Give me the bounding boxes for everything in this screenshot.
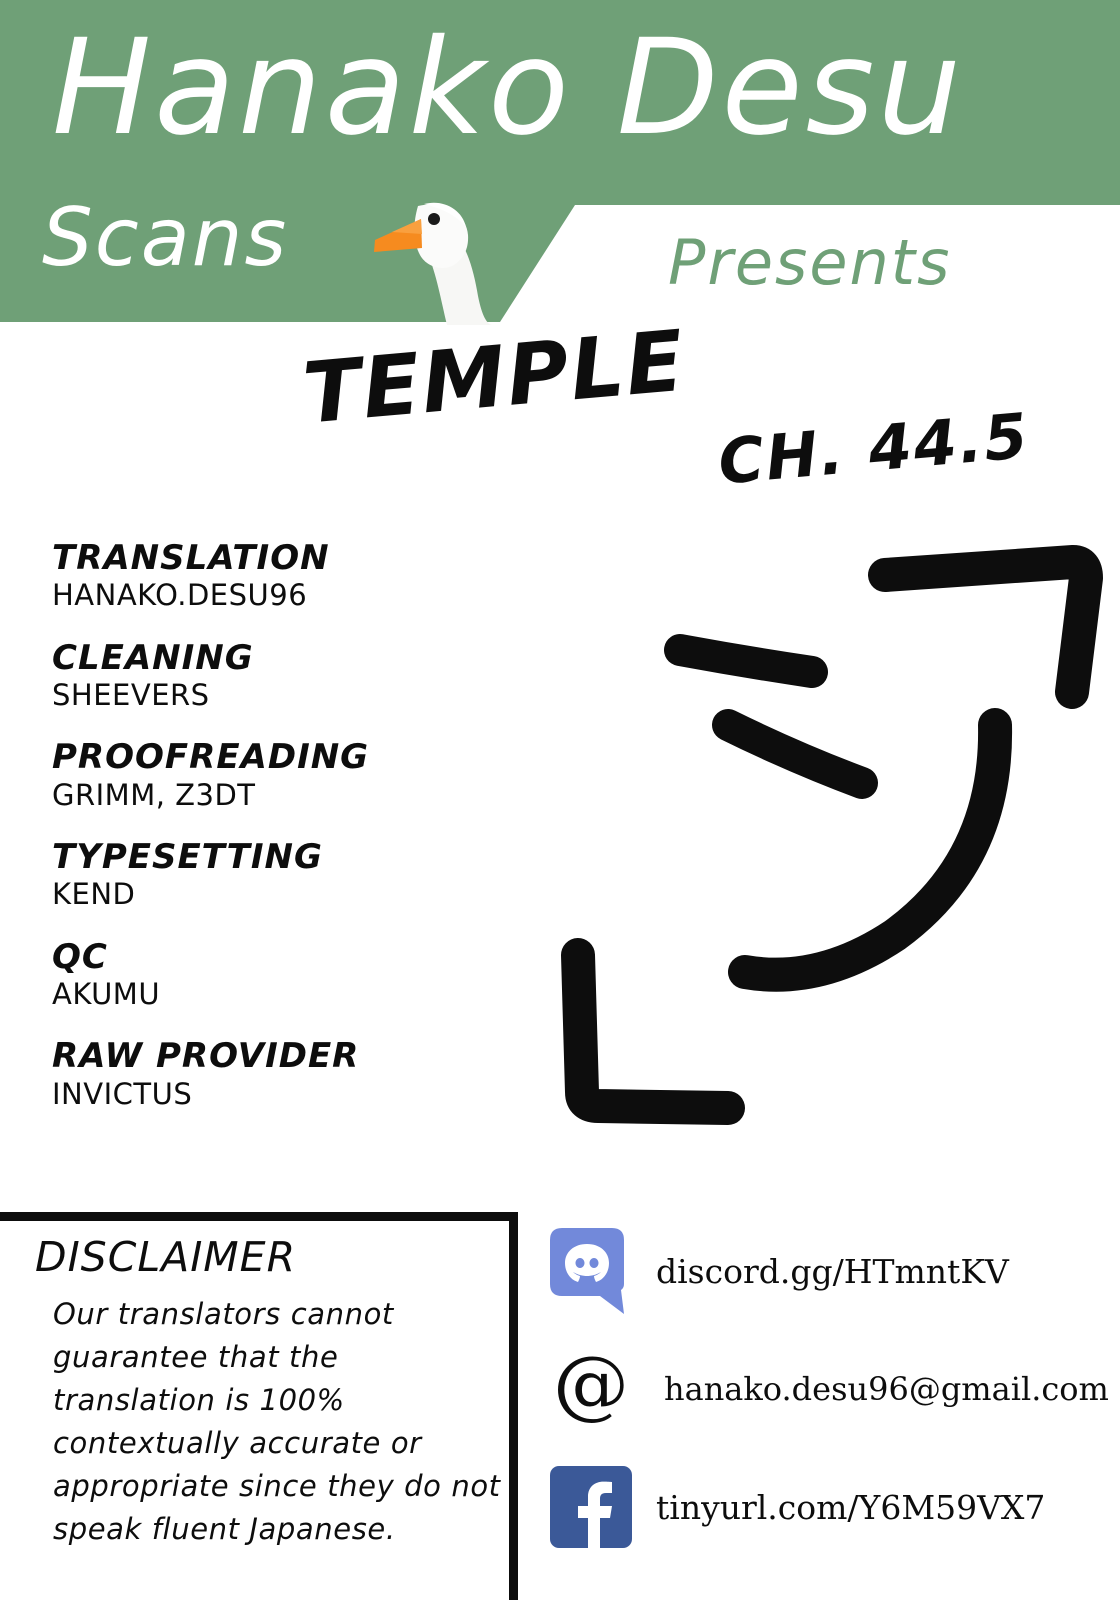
disclaimer-box: DISCLAIMER Our translators cannot guaran… <box>0 1212 518 1600</box>
social-row-discord[interactable]: discord.gg/HTmntKV <box>548 1212 1108 1330</box>
credit-entry-raw-provider: RAW PROVIDER INVICTUS <box>52 1038 512 1112</box>
facebook-icon <box>548 1464 634 1550</box>
brand-title: Hanako Desu <box>52 22 964 154</box>
disclaimer-heading: DISCLAIMER <box>35 1237 296 1278</box>
credit-name-value: GRIMM, Z3DT <box>52 777 512 813</box>
social-row-email[interactable]: @ hanako.desu96@gmail.com <box>548 1330 1108 1448</box>
credit-entry-typesetting: TYPESETTING KEND <box>52 839 512 913</box>
credits-page: Hanako Desu Scans Presents TEMPLE CH. 44… <box>0 0 1120 1600</box>
svg-text:@: @ <box>553 1346 629 1428</box>
credit-name-value: KEND <box>52 876 512 912</box>
credit-entry-qc: QC AKUMU <box>52 939 512 1013</box>
credit-name-value: HANAKO.DESU96 <box>52 577 512 613</box>
goose-mascot-icon <box>374 203 493 325</box>
social-link-label[interactable]: tinyurl.com/Y6M59VX7 <box>656 1491 1045 1524</box>
credit-role-label: QC <box>52 939 512 976</box>
brand-subtitle: Scans <box>42 198 288 278</box>
credit-name-value: SHEEVERS <box>52 677 512 713</box>
social-links-list: discord.gg/HTmntKV @ hanako.desu96@gmail… <box>548 1212 1108 1566</box>
series-title: TEMPLE <box>300 319 689 436</box>
social-row-facebook[interactable]: tinyurl.com/Y6M59VX7 <box>548 1448 1108 1566</box>
hook-stroke-fu-icon <box>885 562 1086 692</box>
credit-role-label: RAW PROVIDER <box>52 1038 512 1075</box>
credit-name-value: AKUMU <box>52 976 512 1012</box>
social-link-label[interactable]: discord.gg/HTmntKV <box>656 1255 1009 1288</box>
presents-label: Presents <box>668 232 951 294</box>
email-at-icon: @ <box>548 1346 634 1432</box>
disclaimer-text: Our translators cannot guarantee that th… <box>53 1293 503 1550</box>
upper-dash-stroke-icon <box>680 650 812 672</box>
discord-icon <box>548 1228 634 1314</box>
japanese-brush-strokes-art <box>520 520 1120 1140</box>
credit-role-label: CLEANING <box>52 640 512 677</box>
credit-name-value: INVICTUS <box>52 1076 512 1112</box>
credit-entry-cleaning: CLEANING SHEEVERS <box>52 640 512 714</box>
chapter-number: CH. 44.5 <box>716 405 1032 494</box>
credit-role-label: PROOFREADING <box>52 739 512 776</box>
credits-list: TRANSLATION HANAKO.DESU96 CLEANING SHEEV… <box>52 540 512 1138</box>
corner-stroke-l-icon <box>578 955 728 1108</box>
credit-role-label: TRANSLATION <box>52 540 512 577</box>
lower-dash-stroke-icon <box>728 725 862 783</box>
credit-role-label: TYPESETTING <box>52 839 512 876</box>
long-curve-stroke-icon <box>745 725 995 975</box>
credit-entry-proofreading: PROOFREADING GRIMM, Z3DT <box>52 739 512 813</box>
social-link-label[interactable]: hanako.desu96@gmail.com <box>664 1373 1109 1405</box>
credit-entry-translation: TRANSLATION HANAKO.DESU96 <box>52 540 512 614</box>
